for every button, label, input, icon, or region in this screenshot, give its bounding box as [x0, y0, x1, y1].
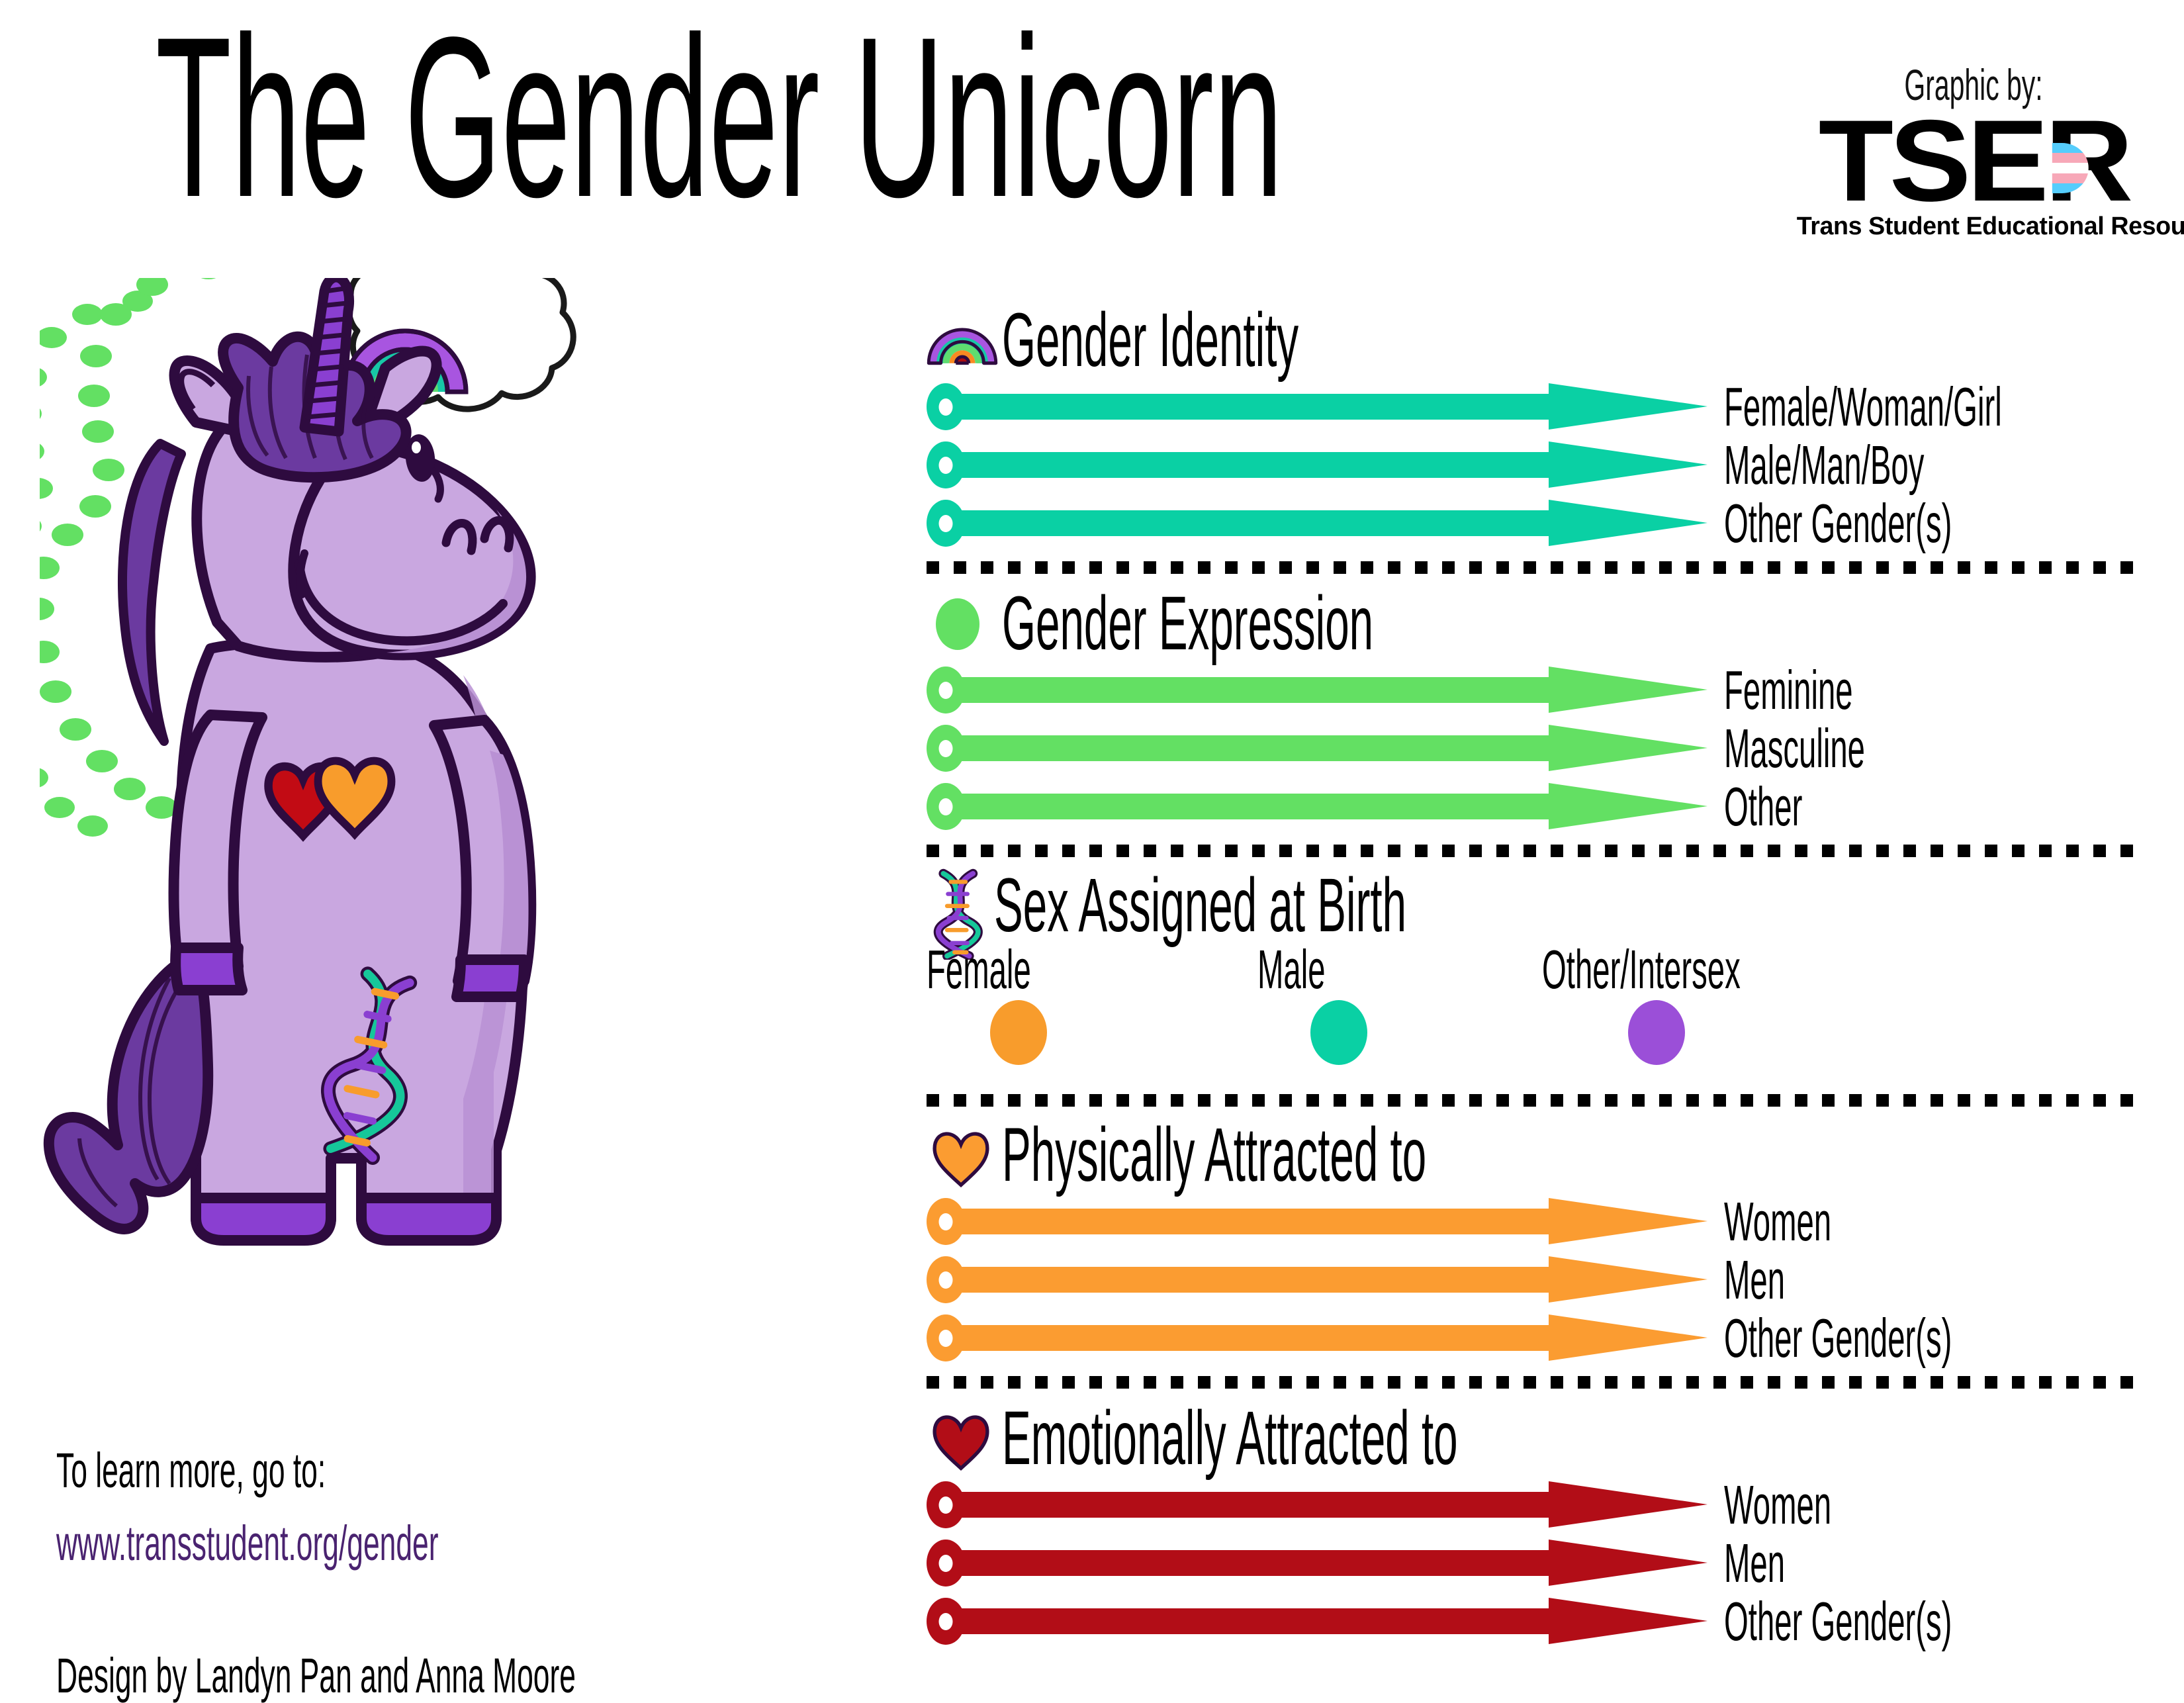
section-gender-identity: Gender Identity Female/Woman/Girl Male/M…: [927, 301, 2141, 547]
arrow-tail-donut: [927, 383, 965, 430]
section-title: Gender Identity: [1002, 307, 1298, 373]
option-rows-physically-attracted-to: Women Men Other Gender(s): [927, 1198, 2141, 1361]
arrow-head: [1549, 725, 1707, 771]
arrow-row[interactable]: Men: [927, 1256, 2141, 1303]
section-emotionally-attracted-to: Emotionally Attracted to Women Men Other…: [927, 1399, 2141, 1645]
arrow-head: [1549, 1598, 1707, 1644]
option-label: Other Gender(s): [1724, 496, 1952, 551]
red-heart-icon: [927, 1405, 1006, 1471]
sab-label-male: Male: [1257, 942, 1326, 997]
arrow-row[interactable]: Female/Woman/Girl: [927, 383, 2141, 430]
section-header-emotionally-attracted-to: Emotionally Attracted to: [927, 1399, 2141, 1477]
arrow-tail-donut: [927, 725, 965, 772]
website-link[interactable]: www.transstudent.org/gender: [56, 1519, 493, 1568]
option-rows-gender-expression: Feminine Masculine Other: [927, 667, 2141, 830]
section-header-gender-expression: Gender Expression: [927, 584, 2141, 663]
arrow-row[interactable]: Male/Man/Boy: [927, 441, 2141, 488]
arrow-row[interactable]: Other Gender(s): [927, 1314, 2141, 1361]
option-label: Women: [1724, 1194, 1831, 1249]
option-rows-gender-identity: Female/Woman/Girl Male/Man/Boy Other Gen…: [927, 383, 2141, 547]
section-divider: [927, 1094, 2141, 1107]
arrow-head: [1549, 441, 1707, 488]
tser-logo-block: Graphic by: TSER Trans Student Education…: [1795, 63, 2152, 241]
arrow-bar: [961, 735, 1550, 761]
arrow-tail-donut: [927, 1598, 965, 1645]
section-title: Physically Attracted to: [1002, 1122, 1426, 1188]
section-header-gender-identity: Gender Identity: [927, 301, 2141, 379]
dna-icon: [929, 872, 998, 939]
option-label: Male/Man/Boy: [1724, 437, 1924, 492]
section-divider: [927, 845, 2141, 857]
arrow-tail-donut: [927, 1314, 965, 1361]
option-label: Masculine: [1724, 721, 1865, 776]
sab-label-female: Female: [927, 942, 1031, 997]
option-label: Other Gender(s): [1724, 1594, 1952, 1649]
arrow-tail-donut: [927, 667, 965, 713]
arrow-bar: [961, 394, 1550, 420]
arrow-head: [1549, 783, 1707, 829]
page-title-wrap: The Gender Unicorn: [156, 26, 1678, 199]
learn-more-label: To learn more, go to:: [56, 1446, 493, 1495]
tser-subtitle: Trans Student Educational Resources: [1797, 212, 2151, 241]
section-physically-attracted-to: Physically Attracted to Women Men Other …: [927, 1116, 2141, 1361]
categories-column: Gender Identity Female/Woman/Girl Male/M…: [927, 301, 2141, 1656]
section-sex-assigned-at-birth: Sex Assigned at Birth Female Male Other/…: [927, 866, 2141, 1070]
sab-dots-row: [927, 1000, 2141, 1070]
option-label: Women: [1724, 1477, 1831, 1532]
arrow-bar: [961, 510, 1550, 536]
arrow-tail-donut: [927, 783, 965, 830]
option-rows-emotionally-attracted-to: Women Men Other Gender(s): [927, 1481, 2141, 1645]
arrow-head: [1549, 667, 1707, 713]
option-label: Other: [1724, 779, 1802, 834]
arrow-bar: [961, 1209, 1550, 1234]
arrow-head: [1549, 1540, 1707, 1586]
section-title: Gender Expression: [1002, 590, 1373, 657]
section-gender-expression: Gender Expression Feminine Masculine Oth…: [927, 584, 2141, 830]
footer-block: To learn more, go to: www.transstudent.o…: [56, 1446, 784, 1700]
arrow-row[interactable]: Other Gender(s): [927, 500, 2141, 547]
arrow-tail-donut: [927, 500, 965, 547]
arrow-row[interactable]: Other Gender(s): [927, 1598, 2141, 1645]
design-credit: Design by Landyn Pan and Anna Moore: [56, 1651, 493, 1700]
arrow-row[interactable]: Feminine: [927, 667, 2141, 713]
arrow-tail-donut: [927, 1256, 965, 1303]
section-divider: [927, 561, 2141, 574]
arrow-tail-donut: [927, 1481, 965, 1528]
arrow-bar: [961, 1492, 1550, 1518]
rainbow-icon: [927, 307, 1006, 373]
tser-wordmark: TSER: [1818, 112, 2128, 211]
sab-dot-other[interactable]: [1628, 1000, 1685, 1065]
arrow-row[interactable]: Masculine: [927, 725, 2141, 772]
arrow-row[interactable]: Men: [927, 1540, 2141, 1587]
orange-heart-icon: [927, 1122, 1006, 1188]
arrow-head: [1549, 1198, 1707, 1244]
page-title: The Gender Unicorn: [156, 26, 985, 208]
section-header-sex-assigned-at-birth: Sex Assigned at Birth: [927, 866, 2141, 944]
option-label: Men: [1724, 1252, 1785, 1307]
arrow-head: [1549, 1256, 1707, 1303]
section-title: Sex Assigned at Birth: [994, 872, 1406, 939]
sab-labels-row: Female Male Other/Intersex: [927, 942, 2141, 1000]
sab-label-other: Other/Intersex: [1542, 942, 1741, 997]
arrow-head: [1549, 1314, 1707, 1361]
arrow-tail-donut: [927, 441, 965, 488]
arrow-tail-donut: [927, 1198, 965, 1245]
arrow-row[interactable]: Women: [927, 1198, 2141, 1245]
option-label: Female/Woman/Girl: [1724, 379, 2002, 434]
arrow-tail-donut: [927, 1540, 965, 1587]
gender-unicorn-illustration: [40, 278, 847, 1403]
section-header-physically-attracted-to: Physically Attracted to: [927, 1116, 2141, 1194]
option-label: Other Gender(s): [1724, 1311, 1952, 1365]
arrow-bar: [961, 677, 1550, 703]
arrow-bar: [961, 794, 1550, 819]
arrow-head: [1549, 1481, 1707, 1528]
arrow-row[interactable]: Other: [927, 783, 2141, 830]
arrow-bar: [961, 1325, 1550, 1351]
sab-dot-male[interactable]: [1310, 1000, 1367, 1065]
arrow-bar: [961, 1608, 1550, 1634]
arrow-head: [1549, 383, 1707, 430]
section-divider: [927, 1376, 2141, 1389]
sab-dot-female[interactable]: [990, 1000, 1047, 1065]
arrow-bar: [961, 1267, 1550, 1293]
green-circle-icon: [927, 590, 1006, 657]
option-label: Men: [1724, 1536, 1785, 1590]
arrow-row[interactable]: Women: [927, 1481, 2141, 1528]
arrow-bar: [961, 1550, 1550, 1576]
option-label: Feminine: [1724, 663, 1853, 717]
section-title: Emotionally Attracted to: [1002, 1405, 1458, 1471]
arrow-head: [1549, 500, 1707, 546]
arrow-bar: [961, 452, 1550, 478]
